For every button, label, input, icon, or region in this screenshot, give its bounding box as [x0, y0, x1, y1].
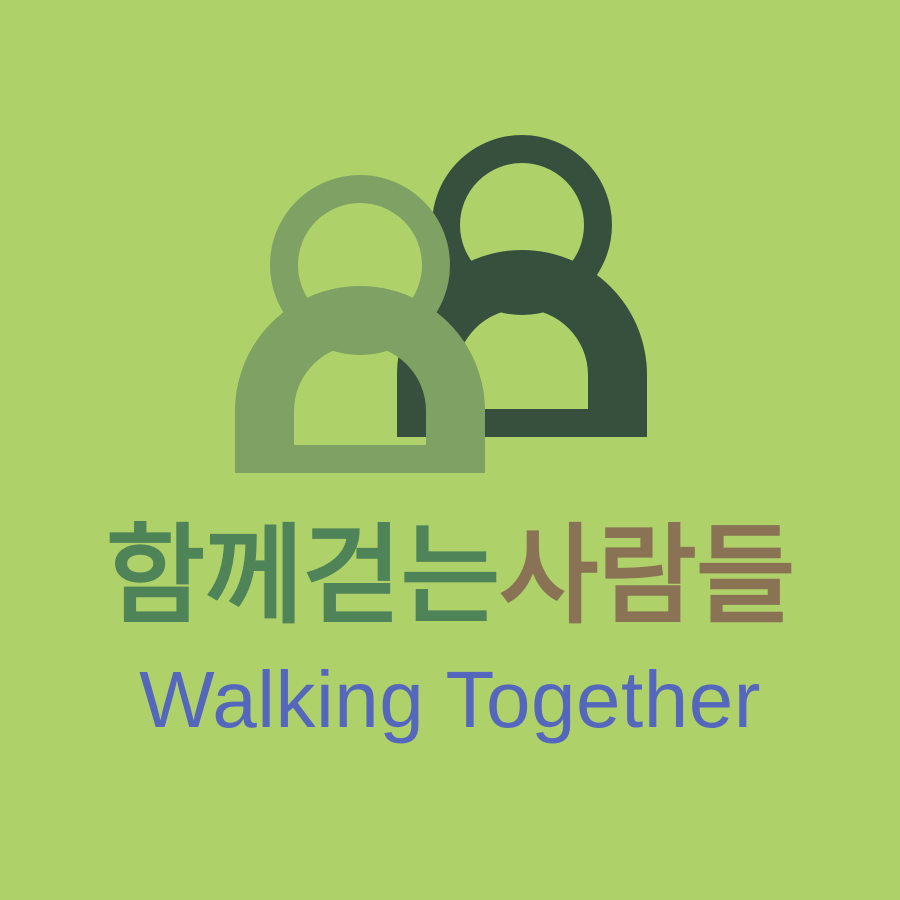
- wordmark-korean-segment-2: 사람들: [499, 523, 794, 631]
- wordmark-korean: 함께걷는사람들: [0, 512, 900, 642]
- channel-art-canvas: 함께걷는사람들 Walking Together: [0, 0, 900, 900]
- two-people-icon: [230, 130, 670, 490]
- wordmark-english: Walking Together: [0, 650, 900, 750]
- wordmark-korean-segment-1: 함께걷는: [106, 523, 499, 631]
